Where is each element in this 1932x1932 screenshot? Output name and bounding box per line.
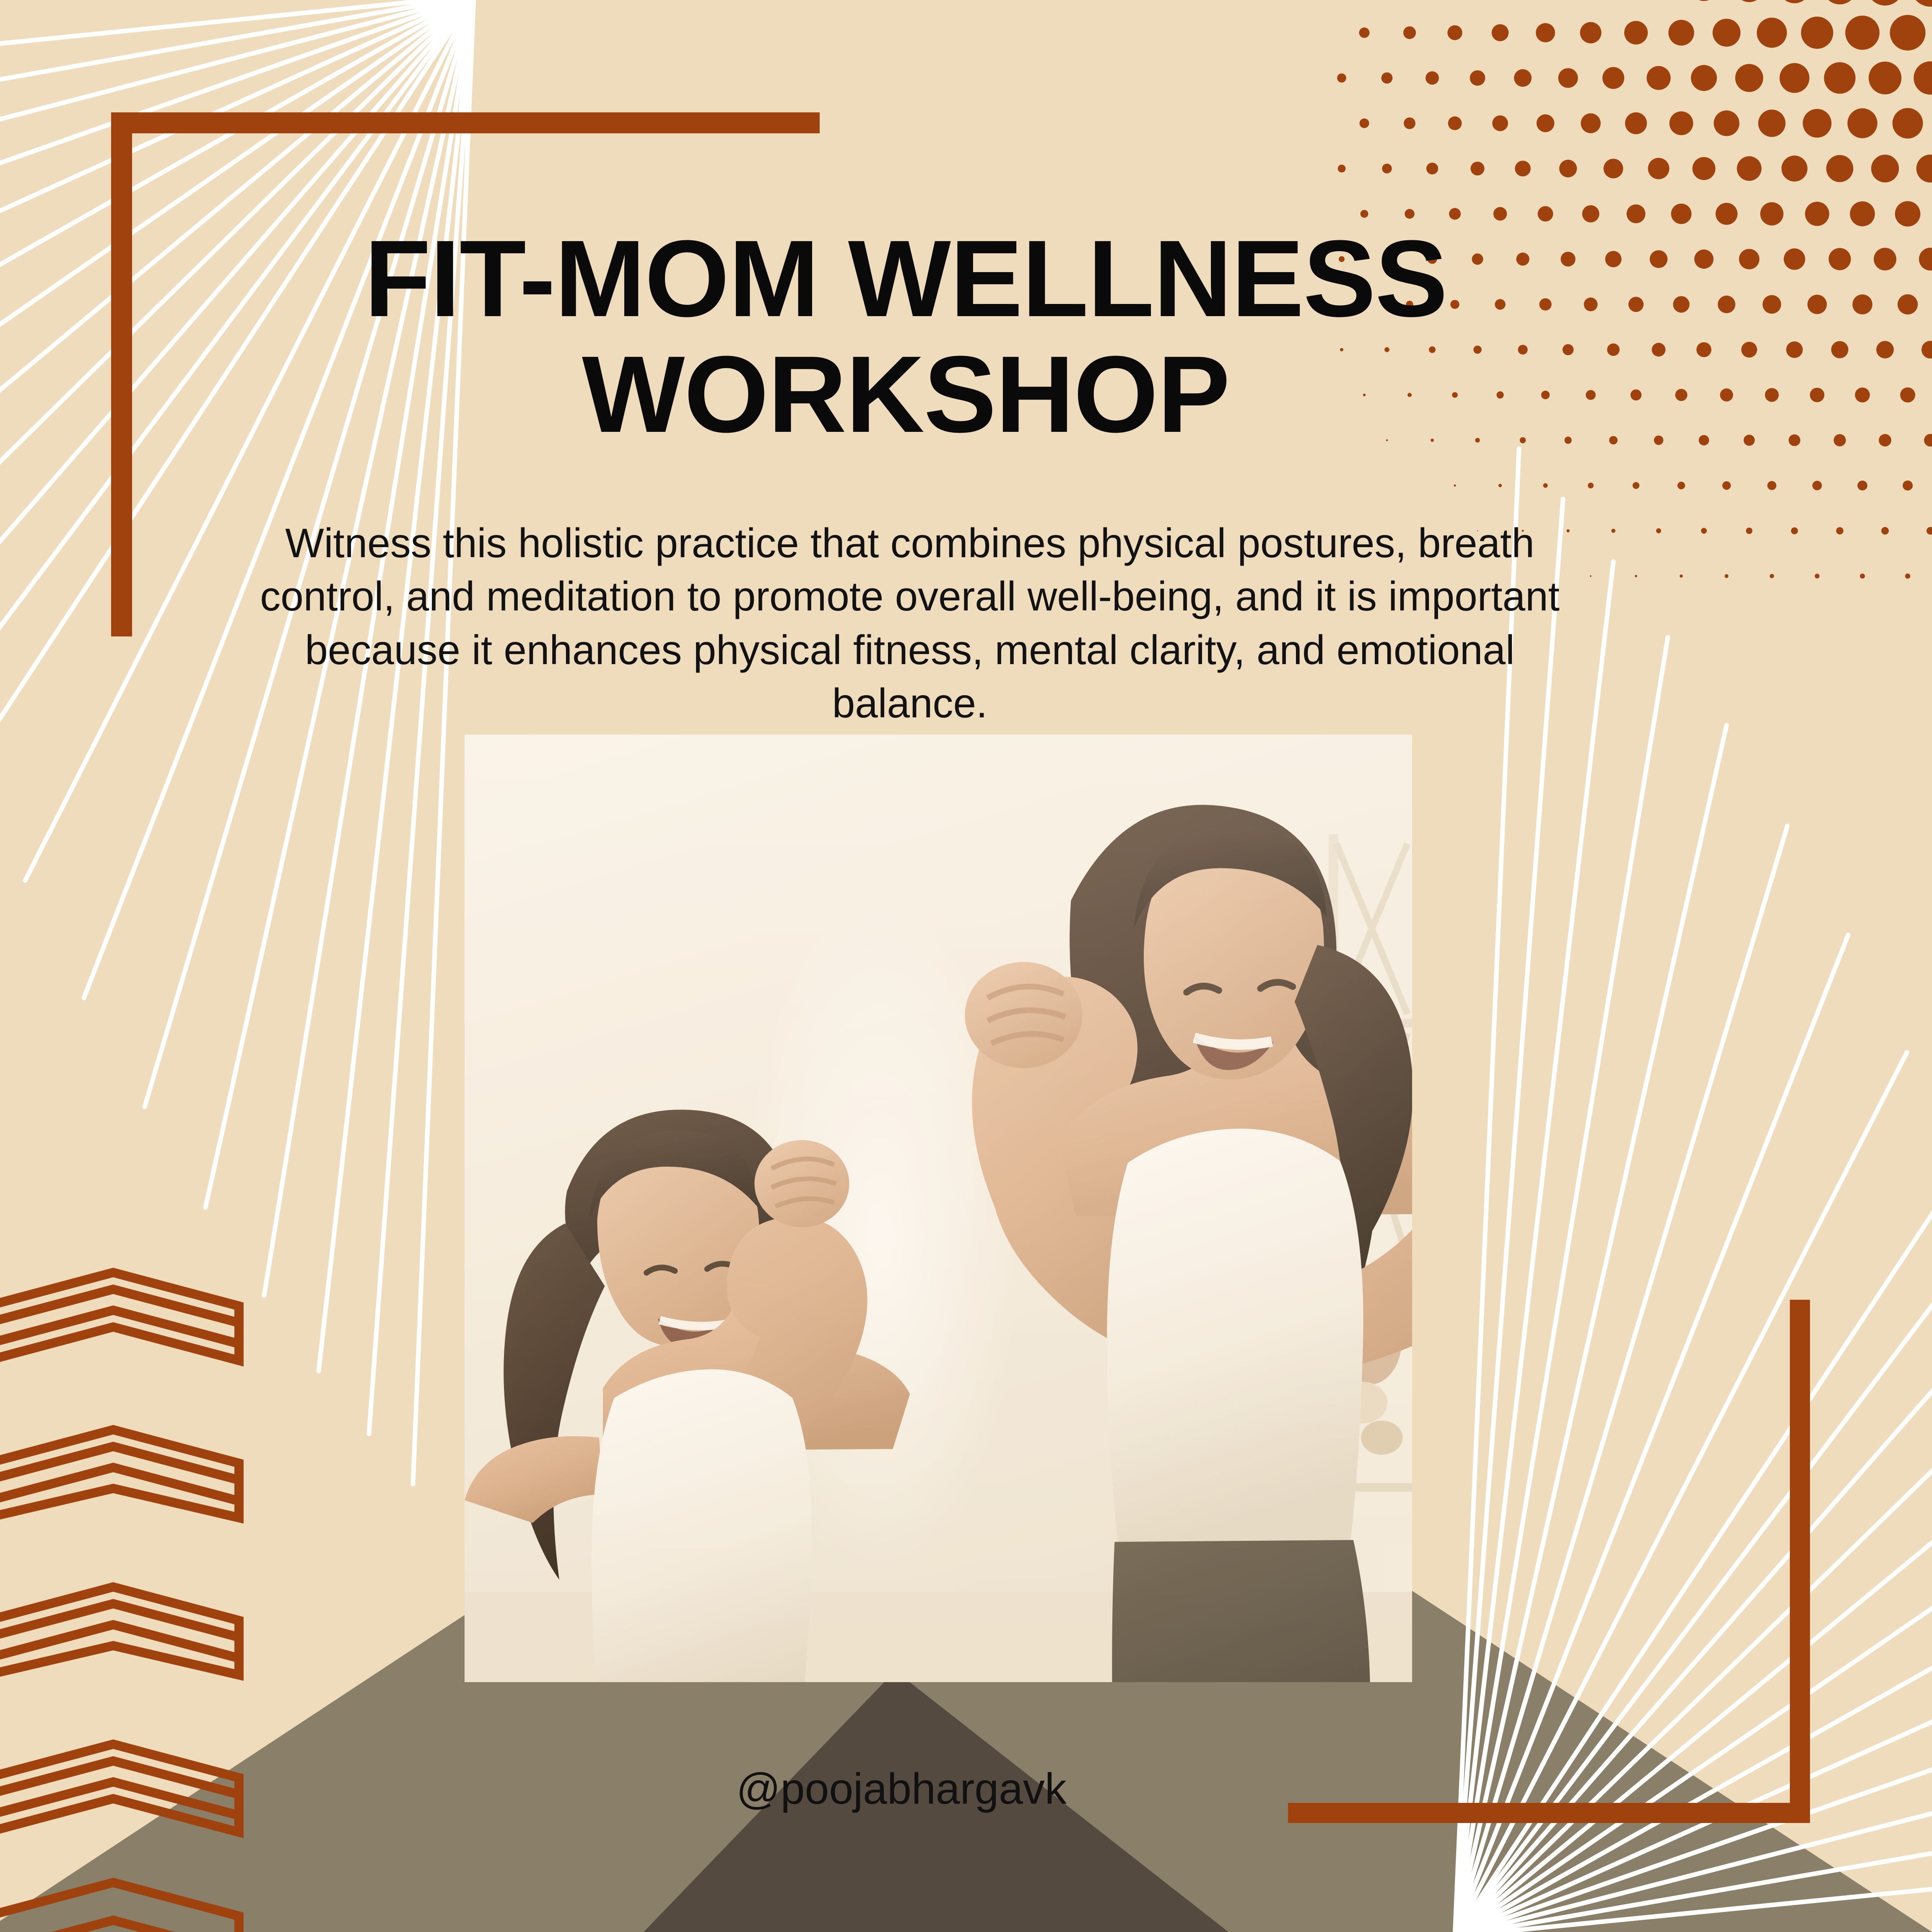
hero-photo — [465, 735, 1412, 1682]
bracket-vertical-bar — [1790, 1300, 1810, 1823]
page-subtitle: Witness this holistic practice that comb… — [260, 517, 1560, 730]
mother-and-daughter-flexing-illustration — [465, 735, 1412, 1682]
bracket-vertical-bar — [111, 112, 132, 636]
bracket-horizontal-bar — [111, 112, 820, 133]
poster-canvas: FIT-MOM WELLNESS WORKSHOP Witness this h… — [0, 0, 1932, 1932]
social-handle[interactable]: @poojabhargavk — [587, 1764, 1216, 1814]
page-title: FIT-MOM WELLNESS WORKSHOP — [252, 221, 1560, 452]
bracket-horizontal-bar — [1288, 1803, 1810, 1823]
